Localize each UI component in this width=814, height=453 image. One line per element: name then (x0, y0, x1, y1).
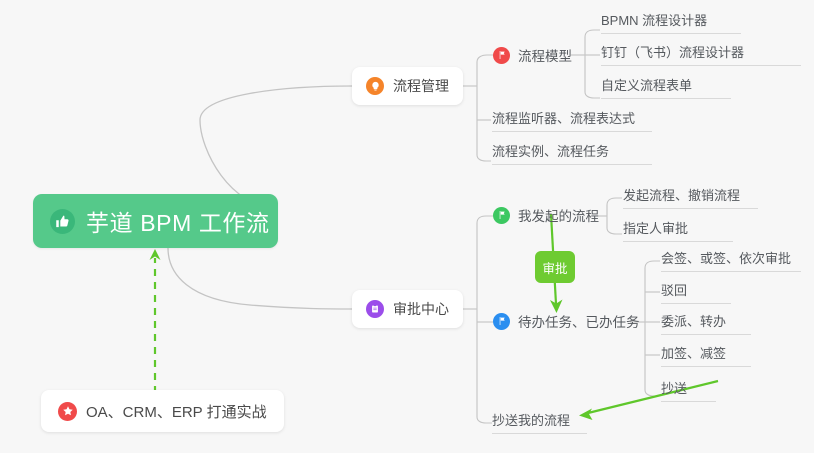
leaf-process-instance[interactable]: 流程实例、流程任务 (492, 144, 652, 165)
node-label-process-model: 流程模型 (518, 45, 572, 65)
leaf-assignee-approval[interactable]: 指定人审批 (623, 221, 733, 242)
callout-label: OA、CRM、ERP 打通实战 (86, 401, 267, 422)
approval-tag[interactable]: 审批 (535, 251, 575, 283)
clipboard-icon (366, 300, 384, 318)
leaf-start-cancel-process[interactable]: 发起流程、撤销流程 (623, 188, 758, 209)
leaf-custom-form[interactable]: 自定义流程表单 (601, 78, 731, 99)
root-node[interactable]: 芋道 BPM 工作流 (33, 194, 278, 248)
branch-label-process-management: 流程管理 (393, 76, 449, 96)
branch-label-approval-center: 审批中心 (393, 299, 449, 319)
approval-tag-label: 审批 (542, 258, 567, 277)
star-icon (58, 402, 77, 421)
thumbs-up-icon (50, 209, 75, 234)
node-label-todo-done-tasks: 待办任务、已办任务 (518, 311, 640, 331)
lightbulb-icon (366, 77, 384, 95)
leaf-dingtalk-designer[interactable]: 钉钉（飞书）流程设计器 (601, 45, 801, 66)
leaf-add-remove-sign[interactable]: 加签、减签 (661, 346, 751, 367)
leaf-bpmn-designer[interactable]: BPMN 流程设计器 (601, 13, 741, 34)
branch-node-approval-center[interactable]: 审批中心 (352, 290, 463, 328)
leaf-cc[interactable]: 抄送 (661, 381, 716, 402)
dashed-arrow-callout (150, 249, 161, 393)
leaf-cc-my-processes[interactable]: 抄送我的流程 (492, 413, 587, 434)
flag-green-icon (493, 207, 510, 224)
mindmap-canvas: 芋道 BPM 工作流 OA、CRM、ERP 打通实战 流程管理 流程模型 B (0, 0, 814, 453)
leaf-delegate-transfer[interactable]: 委派、转办 (661, 314, 751, 335)
node-label-my-started-processes: 我发起的流程 (518, 205, 599, 225)
leaf-reject[interactable]: 驳回 (661, 283, 731, 304)
node-process-model[interactable]: 流程模型 (493, 45, 572, 65)
root-label: 芋道 BPM 工作流 (86, 204, 270, 238)
leaf-process-listener[interactable]: 流程监听器、流程表达式 (492, 111, 652, 132)
node-my-started-processes[interactable]: 我发起的流程 (493, 205, 599, 225)
leaf-countersign[interactable]: 会签、或签、依次审批 (661, 251, 801, 272)
flag-blue-icon (493, 313, 510, 330)
node-todo-done-tasks[interactable]: 待办任务、已办任务 (493, 311, 640, 331)
flag-red-icon (493, 47, 510, 64)
callout-node[interactable]: OA、CRM、ERP 打通实战 (41, 390, 284, 432)
branch-node-process-management[interactable]: 流程管理 (352, 67, 463, 105)
